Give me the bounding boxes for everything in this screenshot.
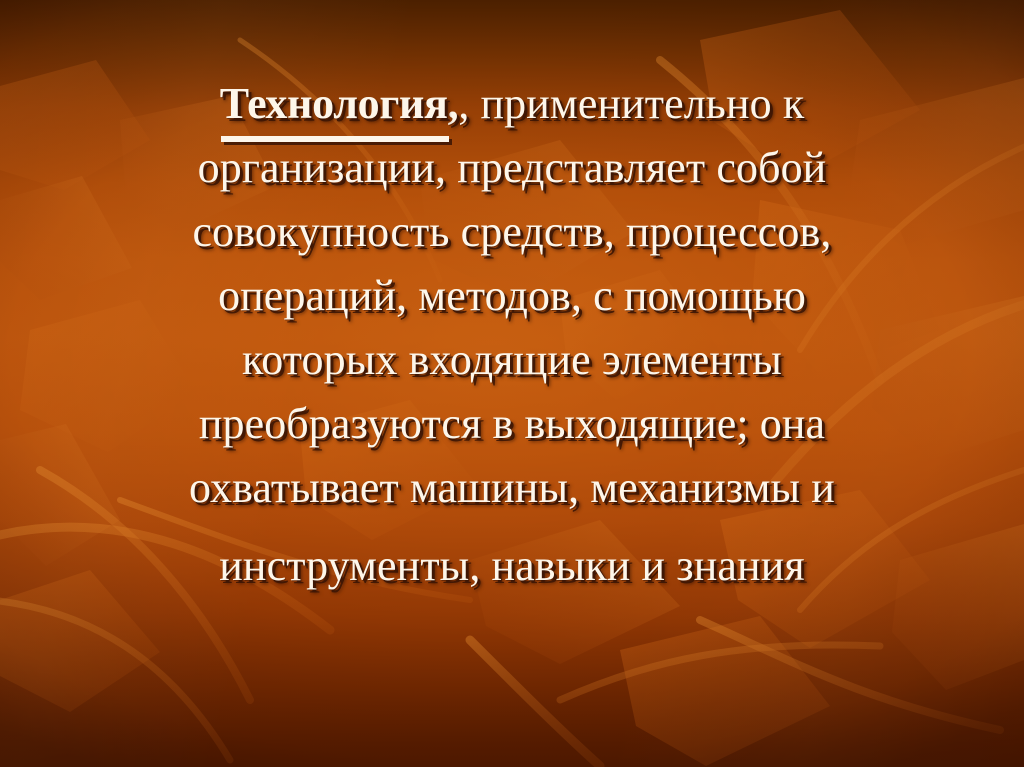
text-line-2: организации, представляет собой (28, 136, 996, 200)
text-line-8: инструменты, навыки и знания (28, 534, 996, 598)
emphasized-term-comma: , (448, 79, 459, 128)
text-line-3: совокупность средств, процессов, (28, 200, 996, 264)
text-line-5: которых входящие элементы (28, 328, 996, 392)
text-line-7: охватывает машины, механизмы и (28, 456, 996, 520)
slide-body-text: Технология,, применительно к организации… (0, 72, 1024, 598)
text-line-1: Технология,, применительно к (28, 72, 996, 136)
text-line-6: преобразуются в выходящие; она (28, 392, 996, 456)
presentation-slide: Технология,, применительно к организации… (0, 0, 1024, 767)
emphasized-term: Технология, (220, 79, 459, 128)
emphasized-term-word: Технология (220, 72, 448, 136)
text-line-4: операций, методов, с помощью (28, 264, 996, 328)
text-line-1-rest: , применительно к (458, 79, 804, 128)
